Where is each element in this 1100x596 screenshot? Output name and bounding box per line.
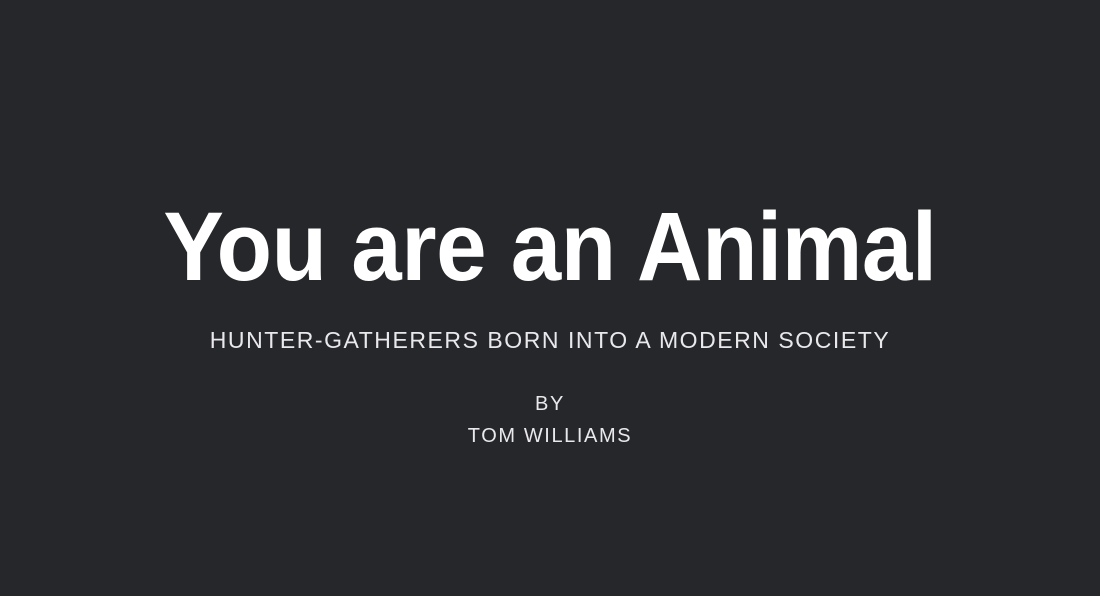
slide-subtitle: HUNTER-GATHERERS BORN INTO A MODERN SOCI… — [0, 327, 1100, 355]
title-slide: You are an Animal HUNTER-GATHERERS BORN … — [0, 0, 1100, 596]
byline-author-name: TOM WILLIAMS — [0, 414, 1100, 446]
byline: BY TOM WILLIAMS — [0, 394, 1100, 446]
byline-prefix: BY — [0, 394, 1100, 414]
page-title: You are an Animal — [36, 198, 1065, 295]
